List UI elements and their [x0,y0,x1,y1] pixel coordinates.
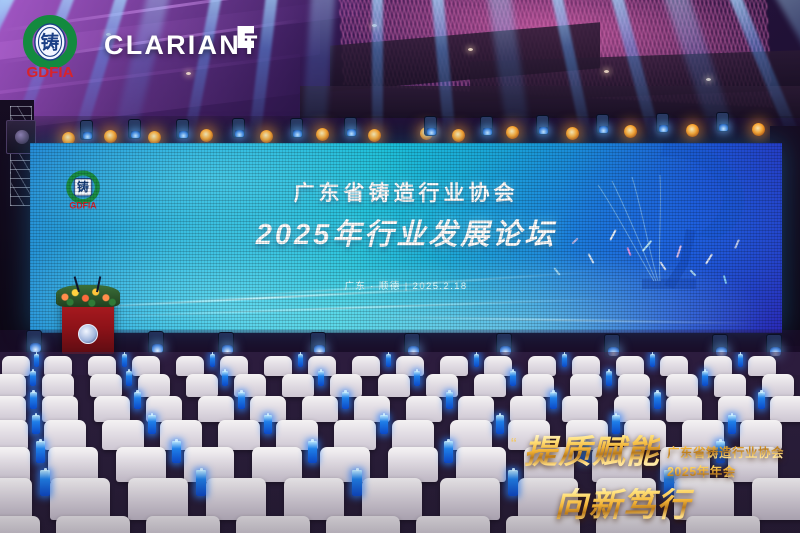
org-line2: 2025年年会 [667,462,784,481]
event-slogan-watermark: “ 提质赋能 广东省铸造行业协会 2025年年会 向新笃行 [510,435,784,521]
moving-head-light [656,113,669,133]
event-photo-canvas: 铸 GDFIA 广东省铸造行业协会 2025年行业发展论坛 广东 · 顺德 | … [0,0,800,533]
moving-head-light [128,119,141,139]
moving-head-light [536,115,549,135]
amber-par-light [752,123,765,136]
podium-emblem [78,324,98,344]
svg-text:铸: 铸 [41,32,60,54]
led-stage-screen: 铸 GDFIA 广东省铸造行业协会 2025年行业发展论坛 广东 · 顺德 | … [30,143,782,333]
screen-title-block: 广东省铸造行业协会 2025年行业发展论坛 广东 · 顺德 | 2025.2.1… [30,177,782,292]
moving-head-light [344,117,357,137]
amber-par-light [624,125,637,138]
quote-open: “ [510,435,517,450]
moving-head-light [424,116,437,136]
moving-head-light [480,116,493,136]
org-name-block: 广东省铸造行业协会 2025年年会 [667,435,784,481]
moving-head-light [716,112,729,132]
moving-head-light [80,120,93,140]
gdfia-wordmark: GDFIA [26,64,73,81]
clariant-c-mark [232,26,254,48]
amber-par-light [368,129,381,142]
moving-head-light [596,114,609,134]
amber-par-light [260,130,273,143]
amber-par-light [104,130,117,143]
org-line1: 广东省铸造行业协会 [667,435,784,462]
gdfia-association-logo: 铸 GDFIA [14,11,86,83]
slogan-line2: 向新笃行 [554,488,784,521]
brand-overlay-bar: 铸 GDFIA CLARIANT [0,0,800,90]
amber-par-light [566,127,579,140]
screen-title-line2: 2025年行业发展论坛 [30,211,782,253]
amber-par-light [316,128,329,141]
screen-location-date: 广东 · 顺德 | 2025.2.18 [30,278,782,292]
amber-par-light [452,129,465,142]
moving-head-light [176,119,189,139]
podium-floral-arrangement [56,285,120,307]
moving-head-light [232,118,245,138]
amber-par-light [506,126,519,139]
amber-par-light [200,129,213,142]
screen-title-line1: 广东省铸造行业协会 [30,177,782,207]
slogan-line1: 提质赋能 [524,435,660,468]
moving-head-light [290,118,303,138]
amber-par-light [686,124,699,137]
